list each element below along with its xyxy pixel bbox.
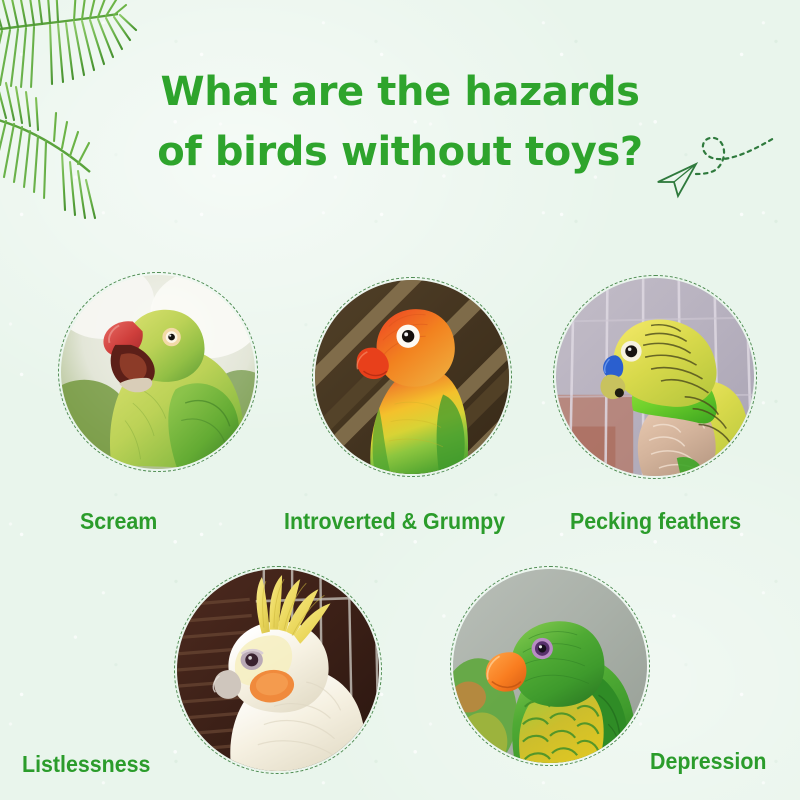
- infographic-poster: Scream: [0, 0, 800, 800]
- hazard-photo-introverted-grumpy[interactable]: [312, 277, 512, 477]
- hazard-label-listlessness: Listlessness: [22, 751, 150, 777]
- hazard-label-depression: Depression: [650, 748, 766, 774]
- hazard-label-introverted-grumpy: Introverted & Grumpy: [284, 508, 505, 534]
- photo-green-parrot-art: [453, 569, 647, 763]
- title-line-1: What are the hazards: [0, 62, 800, 122]
- hazard-label-pecking-feathers: Pecking feathers: [570, 508, 741, 534]
- hazard-photo-scream[interactable]: [58, 272, 258, 472]
- photo-clip: [61, 275, 255, 469]
- photo-clip: [315, 280, 509, 474]
- hazard-label-scream: Scream: [80, 508, 157, 534]
- photo-clip: [556, 278, 754, 476]
- hazard-photo-depression[interactable]: [450, 566, 650, 766]
- title-line-2: of birds without toys?: [0, 122, 800, 182]
- photo-clip: [177, 569, 379, 771]
- hazard-photo-listlessness[interactable]: [174, 566, 382, 774]
- page-title: What are the hazards of birds without to…: [0, 62, 800, 182]
- photo-budgie-art: [556, 278, 754, 476]
- photo-lovebird-art: [315, 280, 509, 474]
- photo-scream-art: [61, 275, 255, 469]
- photo-clip: [453, 569, 647, 763]
- hazard-photo-pecking-feathers[interactable]: [553, 275, 757, 479]
- photo-cockatiel-art: [177, 569, 379, 771]
